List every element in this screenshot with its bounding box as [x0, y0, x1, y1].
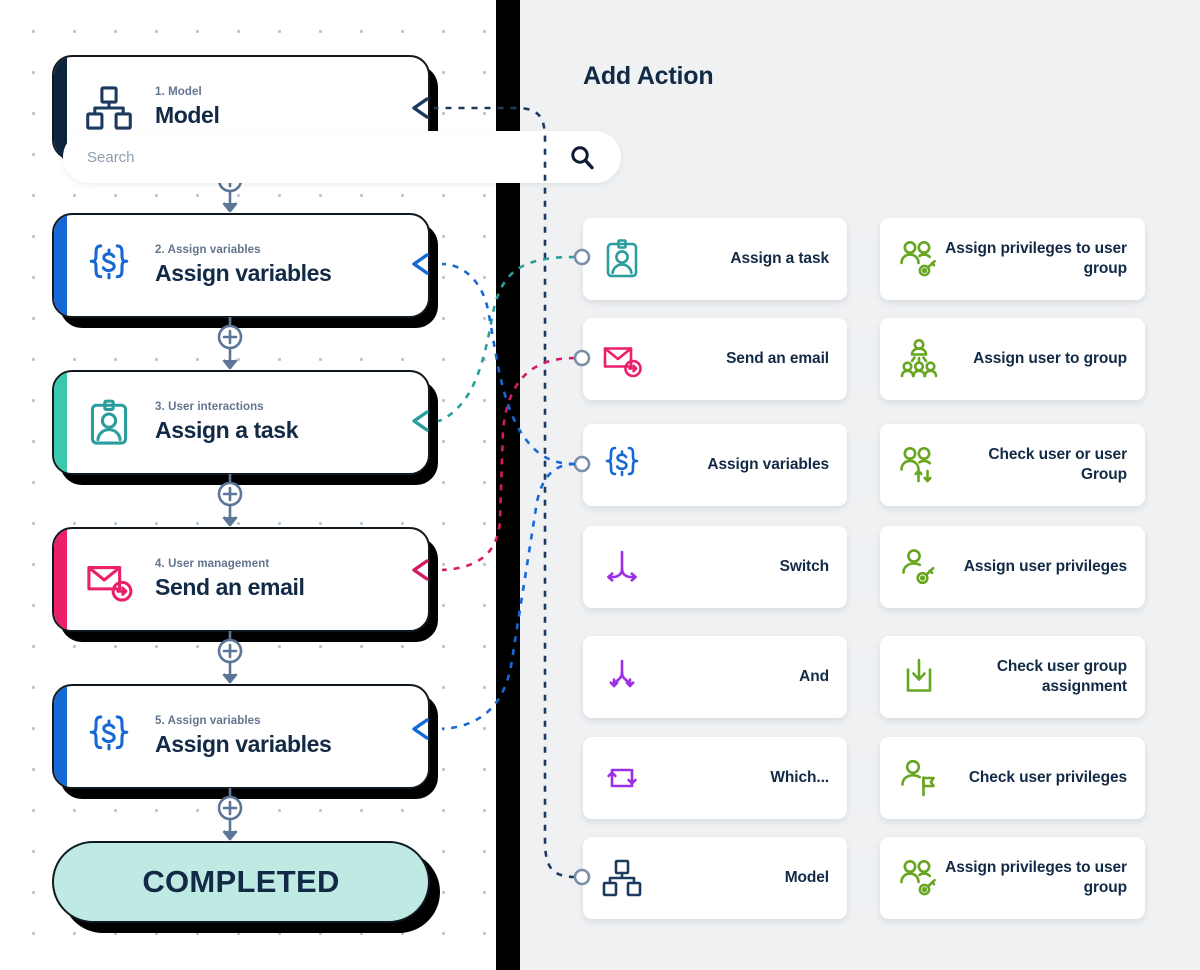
- action-card-left-1[interactable]: Assign a task: [583, 218, 847, 300]
- id-badge-person-icon: [67, 372, 151, 473]
- variables-braces-icon: [67, 215, 151, 316]
- flow-node-step-label: 1. Model: [155, 86, 428, 98]
- action-card-right-5[interactable]: Check user group assignment: [880, 636, 1145, 718]
- add-step-connector-3[interactable]: [214, 474, 246, 532]
- flow-completed-node[interactable]: COMPLETED: [52, 841, 430, 923]
- flow-node-text: 1. Model Model: [151, 86, 428, 129]
- variables-braces-icon: [67, 686, 151, 787]
- action-card-label: Send an email: [647, 349, 829, 369]
- and-fork-icon: [597, 653, 647, 701]
- flow-node-body[interactable]: 5. Assign variables Assign variables: [52, 684, 430, 789]
- action-card-left-2[interactable]: Send an email: [583, 318, 847, 400]
- envelope-send-icon: [67, 529, 151, 630]
- action-card-right-1[interactable]: Assign privileges to user group: [880, 218, 1145, 300]
- action-card-label: Assign user to group: [944, 349, 1127, 369]
- add-step-connector-2[interactable]: [214, 317, 246, 375]
- action-card-label: Assign privileges to user group: [944, 858, 1127, 899]
- action-card-label: Check user group assignment: [944, 657, 1127, 698]
- action-card-left-4[interactable]: Switch: [583, 526, 847, 608]
- flow-node-title: Send an email: [155, 574, 428, 601]
- flow-node-step-label: 3. User interactions: [155, 401, 428, 413]
- flow-node-accent-bar: [54, 57, 67, 158]
- add-step-connector-5[interactable]: [214, 788, 246, 846]
- action-card-right-6[interactable]: Check user privileges: [880, 737, 1145, 819]
- flow-node-body[interactable]: 3. User interactions Assign a task: [52, 370, 430, 475]
- action-card-label: Assign privileges to user group: [944, 239, 1127, 280]
- users-key-icon: [894, 854, 944, 902]
- flow-node-text: 2. Assign variables Assign variables: [151, 244, 428, 287]
- action-card-label: And: [647, 667, 829, 687]
- users-updown-icon: [894, 441, 944, 489]
- flow-node-accent-bar: [54, 529, 67, 630]
- action-card-right-4[interactable]: Assign user privileges: [880, 526, 1145, 608]
- action-card-left-7[interactable]: Model: [583, 837, 847, 919]
- action-card-label: Check user privileges: [944, 768, 1127, 788]
- user-key-icon: [894, 543, 944, 591]
- loop-cycle-icon: [597, 754, 647, 802]
- flow-node-step-label: 2. Assign variables: [155, 244, 428, 256]
- flow-node-text: 3. User interactions Assign a task: [151, 401, 428, 444]
- variables-braces-icon: [597, 441, 647, 489]
- flow-node-title: Assign variables: [155, 260, 428, 287]
- action-card-right-2[interactable]: Assign user to group: [880, 318, 1145, 400]
- action-card-left-5[interactable]: And: [583, 636, 847, 718]
- flow-node-5[interactable]: 5. Assign variables Assign variables: [52, 684, 430, 789]
- flow-node-body[interactable]: 2. Assign variables Assign variables: [52, 213, 430, 318]
- flow-node-4[interactable]: 4. User management Send an email: [52, 527, 430, 632]
- add-step-connector-4[interactable]: [214, 631, 246, 689]
- action-card-right-3[interactable]: Check user or user Group: [880, 424, 1145, 506]
- action-card-left-3[interactable]: Assign variables: [583, 424, 847, 506]
- flow-node-accent-bar: [54, 686, 67, 787]
- flow-node-step-label: 5. Assign variables: [155, 715, 428, 727]
- envelope-send-icon: [597, 335, 647, 383]
- action-card-label: Assign user privileges: [944, 557, 1127, 577]
- action-card-label: Model: [647, 868, 829, 888]
- action-card-label: Assign variables: [647, 455, 829, 475]
- flow-node-title: Assign variables: [155, 731, 428, 758]
- action-card-label: Switch: [647, 557, 829, 577]
- switch-branch-icon: [597, 543, 647, 591]
- flow-node-text: 5. Assign variables Assign variables: [151, 715, 428, 758]
- flow-node-accent-bar: [54, 372, 67, 473]
- search-box[interactable]: [63, 131, 621, 183]
- action-card-label: Which...: [647, 768, 829, 788]
- flow-node-text: 4. User management Send an email: [151, 558, 428, 601]
- user-flag-icon: [894, 754, 944, 802]
- flow-node-title: Assign a task: [155, 417, 428, 444]
- completed-body[interactable]: COMPLETED: [52, 841, 430, 923]
- action-card-label: Assign a task: [647, 249, 829, 269]
- flow-node-title: Model: [155, 102, 428, 129]
- users-key-icon: [894, 235, 944, 283]
- flow-node-accent-bar: [54, 215, 67, 316]
- flow-node-3[interactable]: 3. User interactions Assign a task: [52, 370, 430, 475]
- workflow-builder-screen: 1. Model Model 2. Assign variables Assig…: [0, 0, 1200, 970]
- flow-node-body[interactable]: 4. User management Send an email: [52, 527, 430, 632]
- user-to-group-icon: [894, 335, 944, 383]
- model-hierarchy-icon: [597, 854, 647, 902]
- search-icon[interactable]: [569, 144, 595, 175]
- action-card-left-6[interactable]: Which...: [583, 737, 847, 819]
- action-card-right-7[interactable]: Assign privileges to user group: [880, 837, 1145, 919]
- completed-label: COMPLETED: [142, 864, 339, 900]
- search-input[interactable]: [87, 149, 527, 166]
- id-badge-person-icon: [597, 235, 647, 283]
- page-title: Add Action: [583, 62, 713, 91]
- flow-node-step-label: 4. User management: [155, 558, 428, 570]
- flow-node-2[interactable]: 2. Assign variables Assign variables: [52, 213, 430, 318]
- download-box-icon: [894, 653, 944, 701]
- action-card-label: Check user or user Group: [944, 445, 1127, 486]
